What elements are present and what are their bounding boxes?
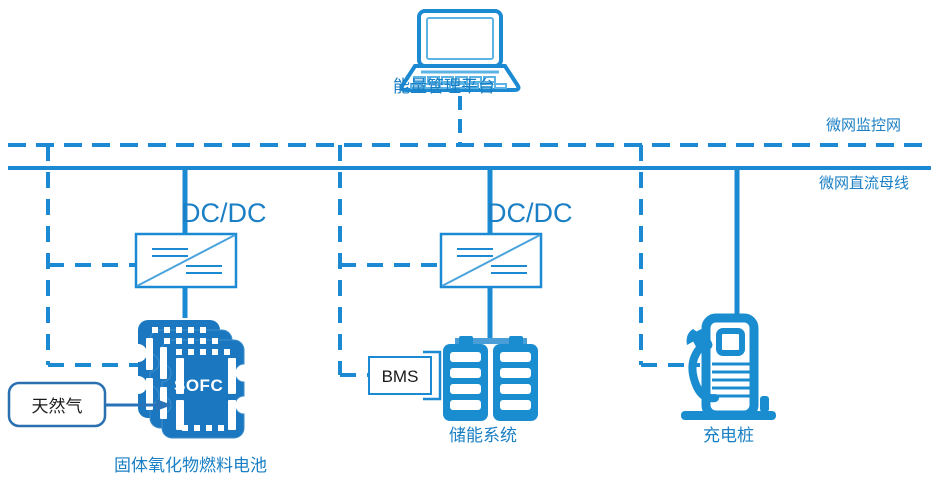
dcdc-converter-ess bbox=[441, 234, 541, 287]
fuel-cell-icon: SOFC bbox=[138, 320, 244, 438]
dc-bus-label: 微网直流母线 bbox=[819, 172, 909, 193]
natural-gas-label: 天然气 bbox=[32, 397, 83, 417]
charger-caption: 充电桩 bbox=[703, 421, 754, 446]
platform-label: 能量管理平台 bbox=[393, 72, 495, 97]
dcdc-converter-sofc bbox=[136, 234, 236, 287]
control-branch-ess bbox=[340, 145, 441, 375]
dcdc-sofc-label: DC/DC bbox=[181, 198, 267, 229]
fuel-cell-caption: 固体氧化物燃料电池 bbox=[114, 451, 267, 476]
fuel-cell-inner-label: SOFC bbox=[174, 376, 223, 395]
ess-caption: 储能系统 bbox=[449, 421, 517, 446]
dcdc-ess-label: DC/DC bbox=[487, 198, 573, 229]
bms-box[interactable]: BMS bbox=[369, 357, 431, 394]
natural-gas-box[interactable]: 天然气 bbox=[9, 383, 105, 426]
monitor-network-label: 微网监控网 bbox=[826, 114, 901, 135]
control-branch-sofc bbox=[48, 145, 140, 365]
battery-stack-icon bbox=[443, 336, 538, 421]
bms-label: BMS bbox=[382, 367, 419, 386]
charging-pile-icon bbox=[681, 318, 776, 420]
